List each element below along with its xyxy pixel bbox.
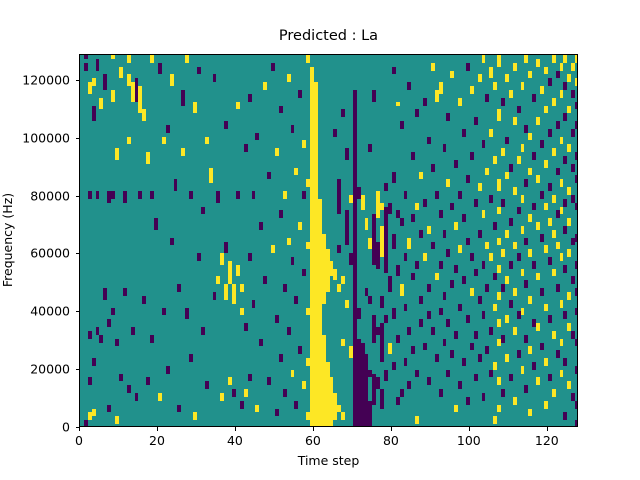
x-tick-label: 60 xyxy=(305,433,321,448)
x-tick-label: 0 xyxy=(75,433,83,448)
y-tick-mark xyxy=(76,80,80,81)
heatmap-axes xyxy=(79,54,578,427)
x-tick-mark xyxy=(391,427,392,431)
y-tick-label: 100000 xyxy=(22,130,70,145)
y-axis-title: Frequency (Hz) xyxy=(0,193,15,287)
x-tick-mark xyxy=(469,427,470,431)
x-tick-label: 80 xyxy=(383,433,399,448)
y-tick-mark xyxy=(76,196,80,197)
heatmap-image xyxy=(80,55,578,427)
y-tick-mark xyxy=(76,253,80,254)
matplotlib-figure: Predicted : La 0200004000060000800001000… xyxy=(0,0,640,480)
x-tick-label: 40 xyxy=(227,433,243,448)
y-tick-mark xyxy=(76,369,80,370)
y-tick-mark xyxy=(76,138,80,139)
x-tick-mark xyxy=(157,427,158,431)
x-tick-mark xyxy=(235,427,236,431)
y-tick-label: 20000 xyxy=(30,362,70,377)
y-tick-label: 120000 xyxy=(22,72,70,87)
x-tick-label: 20 xyxy=(149,433,165,448)
x-tick-mark xyxy=(79,427,80,431)
x-tick-label: 100 xyxy=(457,433,481,448)
page-title: Predicted : La xyxy=(79,27,578,45)
x-tick-mark xyxy=(313,427,314,431)
y-tick-label: 0 xyxy=(62,420,70,435)
y-tick-label: 40000 xyxy=(30,304,70,319)
y-tick-label: 80000 xyxy=(30,188,70,203)
x-axis-title: Time step xyxy=(79,453,578,468)
y-tick-mark xyxy=(76,311,80,312)
y-tick-label: 60000 xyxy=(30,246,70,261)
x-tick-mark xyxy=(547,427,548,431)
x-tick-label: 120 xyxy=(535,433,559,448)
